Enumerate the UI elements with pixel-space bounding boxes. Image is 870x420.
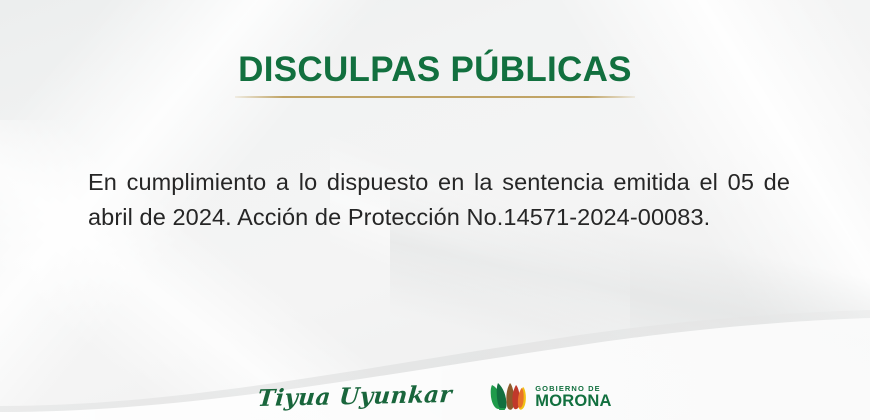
title-underline-rule [235,96,635,98]
announcement-card: DISCULPAS PÚBLICAS En cumplimiento a lo … [0,0,870,420]
page-title: DISCULPAS PÚBLICAS [238,52,632,87]
morona-leaf-emblem-icon [490,382,528,412]
gobierno-de-morona-wordmark: GOBIERNO DE MORONA [535,385,611,410]
footer-logos: Tiyua Uyunkar GOBIERNO DE MORONA [0,376,870,420]
gobierno-de-morona-logo: GOBIERNO DE MORONA [490,382,611,412]
tiyua-uyunkar-wordmark: Tiyua Uyunkar [257,382,453,409]
announcement-body: En cumplimiento a lo dispuesto en la sen… [88,165,790,235]
header: DISCULPAS PÚBLICAS [0,52,870,98]
gov-logo-line1: GOBIERNO DE [535,385,611,393]
gov-logo-line2: MORONA [535,393,611,410]
announcement-paragraph: En cumplimiento a lo dispuesto en la sen… [88,165,790,235]
